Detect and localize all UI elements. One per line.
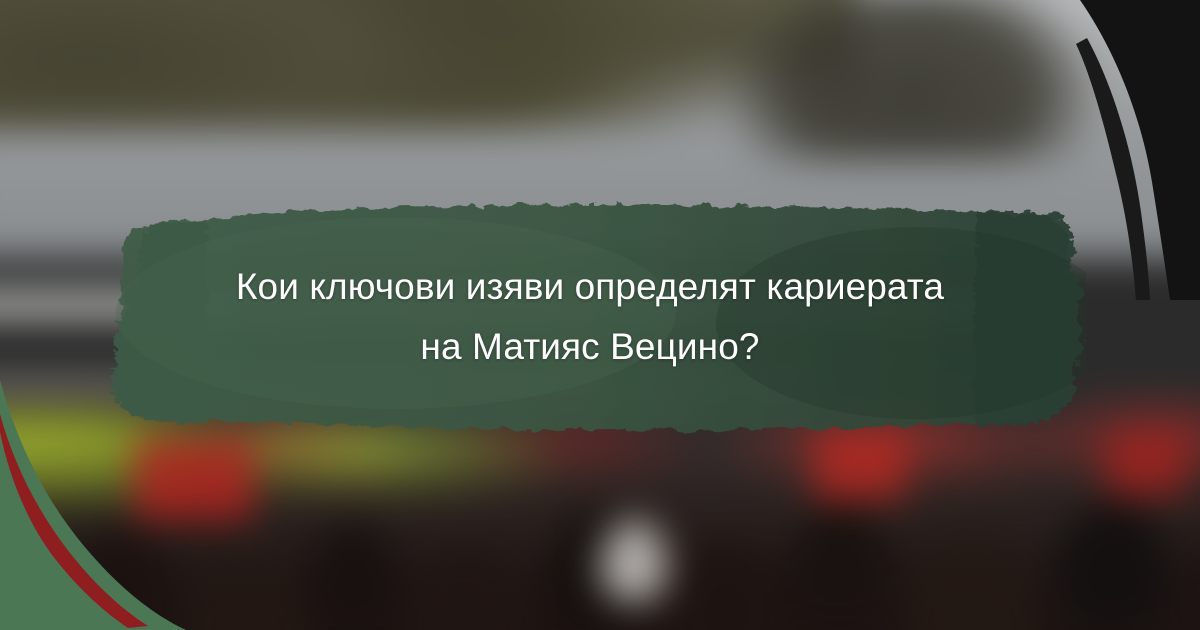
crowd-flag: [1106, 433, 1186, 496]
crowd-head: [1053, 500, 1173, 630]
crowd-head: [786, 505, 892, 626]
headline-line-2: на Матияс Вецино?: [420, 325, 759, 369]
crowd-head: [667, 539, 787, 630]
crowd-head: [1172, 539, 1200, 630]
social-share-card: Кои ключови изяви определят кариерата на…: [0, 0, 1200, 630]
headline-text-block: Кои ключови изяви определят кариерата на…: [150, 222, 1030, 412]
crowd-head: [906, 544, 1039, 630]
crowd-head: [400, 549, 533, 630]
crowd-head: [307, 520, 400, 630]
headline-line-1: Кои ключови изяви определят кариерата: [236, 265, 944, 309]
